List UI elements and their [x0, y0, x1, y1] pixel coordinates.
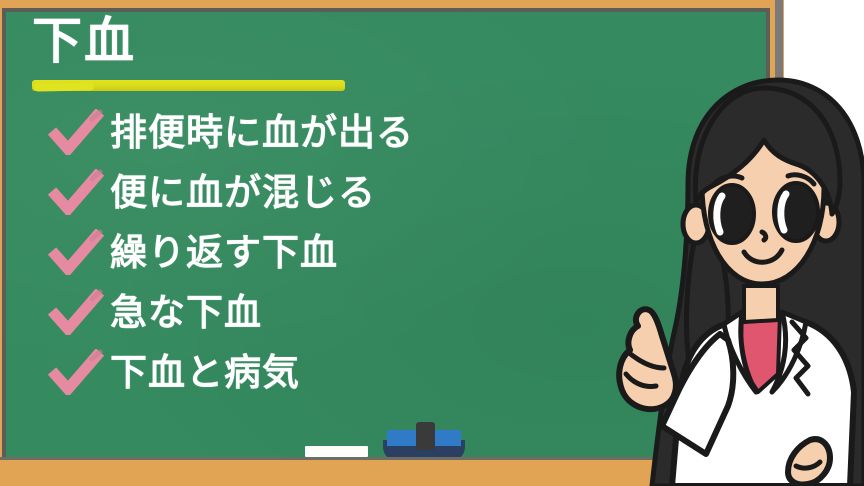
symptom-checklist: 排便時に血が出る 便に血が混じる 繰り返す下血 — [48, 102, 668, 402]
list-item[interactable]: 繰り返す下血 — [48, 222, 668, 282]
list-item[interactable]: 下血と病気 — [48, 342, 668, 402]
list-item-label: 便に血が混じる — [110, 174, 376, 211]
eye-right — [774, 183, 818, 241]
check-icon — [48, 289, 104, 335]
doctor-illustration — [592, 74, 864, 486]
pointing-hand — [619, 309, 676, 409]
check-icon — [48, 349, 104, 395]
screenshot-root: 下血 排便時に血が出る 便に血が混じる — [0, 0, 864, 486]
check-icon — [48, 229, 104, 275]
title-underline — [32, 80, 345, 91]
eraser-handle — [416, 422, 435, 450]
neck — [744, 286, 778, 322]
list-item-label: 排便時に血が出る — [110, 114, 414, 151]
list-item-label: 下血と病気 — [110, 354, 300, 391]
list-item[interactable]: 排便時に血が出る — [48, 102, 668, 162]
list-item[interactable]: 急な下血 — [48, 282, 668, 342]
list-item[interactable]: 便に血が混じる — [48, 162, 668, 222]
page-title: 下血 — [32, 14, 136, 69]
check-icon — [48, 109, 104, 155]
list-item-label: 急な下血 — [110, 294, 262, 331]
eye-left — [710, 185, 754, 243]
list-item-label: 繰り返す下血 — [110, 234, 338, 271]
blackboard-eraser[interactable] — [383, 427, 465, 461]
check-icon — [48, 169, 104, 215]
chalk-stick[interactable] — [305, 446, 368, 457]
